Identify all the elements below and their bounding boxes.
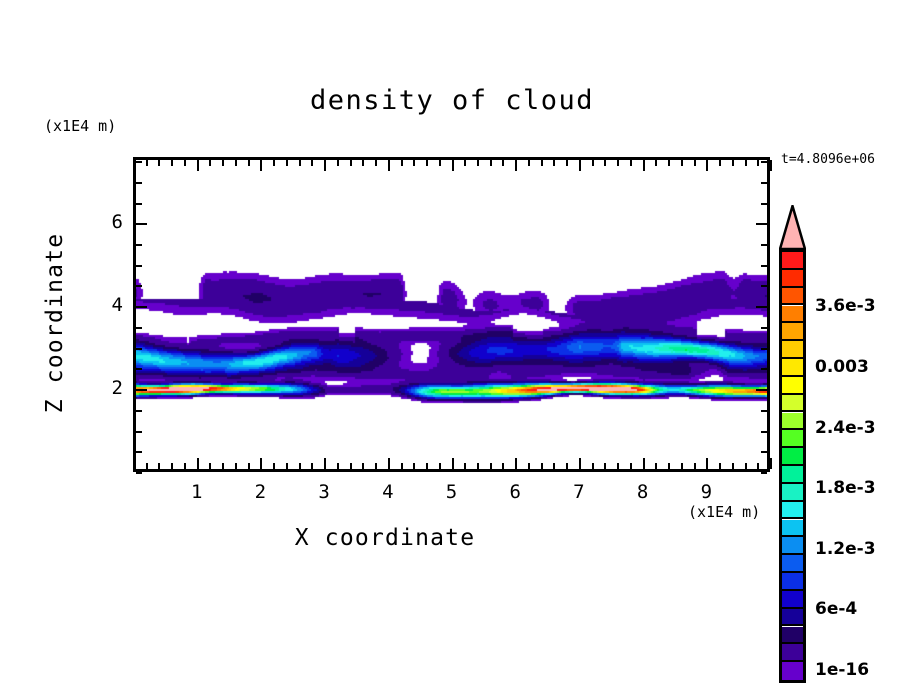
tick-mark [757,160,759,166]
tick-mark [464,160,466,166]
colorbar-band [782,413,803,431]
tick-mark [248,463,250,469]
tick-mark [757,463,759,469]
tick-mark [146,160,148,166]
tick-mark [299,160,301,166]
tick-mark [260,160,262,171]
colorbar-band [782,573,803,591]
tick-mark [439,463,441,469]
x-tick-label: 2 [240,481,280,503]
tick-mark [706,160,708,171]
tick-mark [745,160,747,166]
tick-mark [136,431,142,433]
tick-mark [668,463,670,469]
colorbar-tick-label: 1.8e-3 [815,478,876,498]
tick-mark [324,458,326,469]
tick-mark [133,160,135,171]
x-tick-label: 6 [495,481,535,503]
tick-mark [426,463,428,469]
tick-mark [528,160,530,166]
y-axis-title: Z coordinate [42,213,68,433]
tick-mark [171,160,173,166]
tick-mark [337,463,339,469]
colorbar-tick-label: 1e-16 [815,660,869,680]
tick-mark [362,463,364,469]
colorbar-band [782,341,803,359]
tick-mark [248,160,250,166]
tick-mark [681,160,683,166]
tick-mark [286,463,288,469]
tick-mark [311,160,313,166]
x-tick-label: 5 [432,481,472,503]
tick-mark [401,463,403,469]
tick-mark [401,160,403,166]
tick-mark [133,458,135,469]
tick-mark [260,458,262,469]
tick-mark [617,160,619,166]
x-tick-label: 7 [559,481,599,503]
tick-mark [452,458,454,469]
tick-mark [184,463,186,469]
tick-mark [158,463,160,469]
tick-mark [694,463,696,469]
tick-mark [337,160,339,166]
tick-mark [761,244,767,246]
tick-mark [136,410,142,412]
colorbar-band [782,484,803,502]
tick-mark [761,348,767,350]
y-tick-label: 6 [83,211,123,233]
tick-mark [668,160,670,166]
tick-mark [158,160,160,166]
tick-mark [235,463,237,469]
colorbar-over-range-arrow [779,205,806,250]
colorbar-band [782,591,803,609]
tick-mark [136,285,142,287]
tick-mark [756,223,767,225]
tick-mark [375,160,377,166]
x-tick-label: 3 [304,481,344,503]
colorbar-band [782,466,803,484]
tick-mark [761,203,767,205]
colorbar-band [782,520,803,538]
tick-mark [388,458,390,469]
tick-mark [761,285,767,287]
colorbar-band [782,306,803,324]
tick-mark [222,463,224,469]
tick-mark [375,463,377,469]
colorbar-band [782,448,803,466]
tick-mark [761,431,767,433]
tick-mark [579,458,581,469]
tick-mark [413,160,415,166]
timestamp-annotation: t=4.8096e+06 [781,152,875,167]
colorbar-band [782,288,803,306]
tick-mark [655,463,657,469]
tick-mark [184,160,186,166]
x-axis-unit-label: (x1E4 m) [688,503,760,521]
tick-mark [592,160,594,166]
contour-plot-area [133,157,770,472]
tick-mark [136,451,142,453]
tick-mark [350,160,352,166]
colorbar-band [782,377,803,395]
tick-mark [136,306,147,308]
tick-mark [761,410,767,412]
tick-mark [286,160,288,166]
tick-mark [362,160,364,166]
tick-mark [761,368,767,370]
colorbar-band [782,395,803,413]
tick-mark [324,160,326,171]
tick-mark [299,463,301,469]
tick-mark [350,463,352,469]
tick-mark [579,160,581,171]
tick-mark [490,463,492,469]
tick-mark [136,182,142,184]
tick-mark [490,160,492,166]
tick-mark [413,463,415,469]
tick-mark [566,160,568,166]
tick-mark [617,463,619,469]
tick-mark [770,160,772,171]
tick-mark [528,463,530,469]
tick-mark [643,160,645,171]
tick-mark [136,472,142,474]
tick-mark [477,160,479,166]
tick-mark [630,160,632,166]
tick-mark [761,451,767,453]
tick-mark [136,244,142,246]
tick-mark [197,160,199,171]
tick-mark [502,463,504,469]
tick-mark [209,463,211,469]
colorbar-band [782,359,803,377]
tick-mark [477,463,479,469]
tick-mark [655,160,657,166]
tick-mark [761,265,767,267]
tick-mark [706,458,708,469]
colorbar-gradient-bands [779,249,806,683]
colorbar-tick-label: 6e-4 [815,599,857,619]
colorbar-tick-label: 3.6e-3 [815,296,876,316]
colorbar-band [782,430,803,448]
colorbar-tick-label: 1.2e-3 [815,539,876,559]
density-field-canvas [133,157,770,472]
tick-mark [273,160,275,166]
tick-mark [388,160,390,171]
tick-mark [136,368,142,370]
tick-mark [515,160,517,171]
tick-mark [222,160,224,166]
colorbar-band [782,502,803,520]
tick-mark [604,463,606,469]
tick-mark [136,203,142,205]
tick-mark [197,458,199,469]
colorbar-band [782,270,803,288]
colorbar-band [782,644,803,662]
y-tick-label: 2 [83,377,123,399]
tick-mark [136,327,142,329]
colorbar-band [782,609,803,627]
tick-mark [553,160,555,166]
tick-mark [136,161,142,163]
colorbar-tick-label: 0.003 [815,357,869,377]
tick-mark [761,161,767,163]
tick-mark [171,463,173,469]
tick-mark [630,463,632,469]
tick-mark [761,182,767,184]
tick-mark [732,463,734,469]
y-tick-label: 4 [83,294,123,316]
colorbar-tick-label: 2.4e-3 [815,418,876,438]
tick-mark [694,160,696,166]
tick-mark [541,463,543,469]
colorbar-band [782,537,803,555]
x-tick-label: 8 [623,481,663,503]
tick-mark [452,160,454,171]
tick-mark [604,160,606,166]
colorbar-band [782,323,803,341]
tick-mark [426,160,428,166]
colorbar-band [782,555,803,573]
tick-mark [719,160,721,166]
tick-mark [541,160,543,166]
colorbar-band [782,627,803,645]
tick-mark [681,463,683,469]
tick-mark [761,472,767,474]
x-tick-label: 1 [177,481,217,503]
tick-mark [273,463,275,469]
tick-mark [209,160,211,166]
tick-mark [136,348,142,350]
tick-mark [770,458,772,469]
tick-mark [756,389,767,391]
tick-mark [311,463,313,469]
figure-canvas: density of cloud (x1E4 m) t=4.8096e+06 1… [0,0,904,654]
tick-mark [146,463,148,469]
tick-mark [439,160,441,166]
tick-mark [643,458,645,469]
tick-mark [136,389,147,391]
colorbar-band [782,252,803,270]
tick-mark [136,265,142,267]
tick-mark [553,463,555,469]
tick-mark [136,223,147,225]
tick-mark [235,160,237,166]
chart-title: density of cloud [0,85,904,116]
tick-mark [761,327,767,329]
tick-mark [756,306,767,308]
tick-mark [719,463,721,469]
tick-mark [502,160,504,166]
x-tick-label: 4 [368,481,408,503]
tick-mark [745,463,747,469]
tick-mark [515,458,517,469]
tick-mark [732,160,734,166]
colorbar-band [782,662,803,680]
x-axis-title: X coordinate [0,525,770,551]
tick-mark [592,463,594,469]
x-tick-label: 9 [686,481,726,503]
tick-mark [464,463,466,469]
y-axis-unit-label: (x1E4 m) [44,117,116,135]
tick-mark [566,463,568,469]
